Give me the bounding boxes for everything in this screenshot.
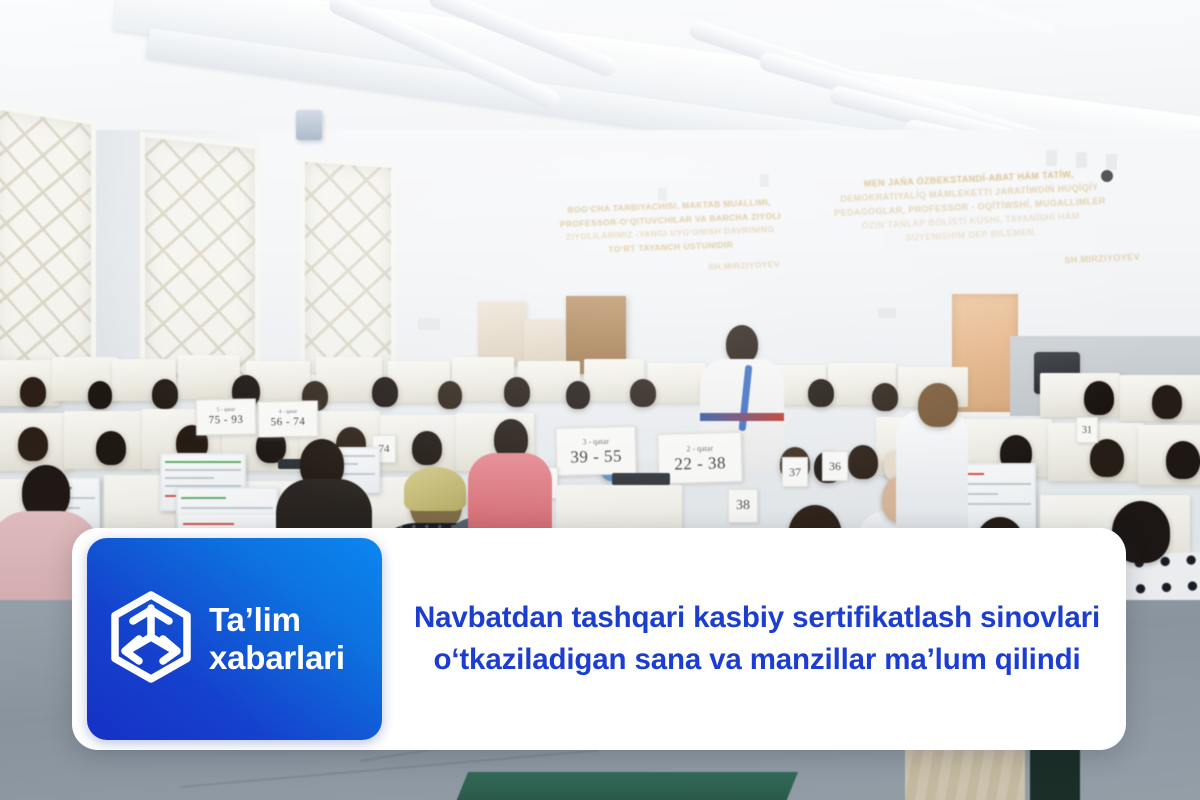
wall-detail	[878, 308, 896, 318]
row-sign-range: 75 - 93	[209, 415, 244, 427]
row-sign-range: 22 - 38	[674, 454, 726, 472]
person-body-foreground	[896, 411, 968, 533]
seat-number: 37	[782, 457, 808, 487]
lattice-window	[0, 104, 96, 381]
screen-bar	[165, 461, 241, 463]
row-sign: 4 - qatar 56 - 74	[258, 400, 319, 437]
cube-logo-icon	[109, 591, 193, 688]
row-sign-label: 2 - qatar	[686, 444, 713, 453]
brand-name: Ta’lim xabarlari	[209, 601, 345, 676]
seat-number: 31	[1076, 417, 1098, 443]
person-head	[152, 379, 178, 409]
screen-bar	[181, 507, 273, 509]
floor-dark-panel	[1030, 742, 1080, 800]
row-sign-range: 56 - 74	[271, 417, 306, 429]
person-head	[1090, 439, 1124, 477]
wall-detail	[658, 188, 667, 201]
person-head	[96, 431, 126, 465]
desk-divider	[648, 363, 706, 403]
row-sign-range: 39 - 55	[570, 447, 622, 465]
desk-divider	[178, 355, 240, 399]
person-head	[848, 445, 878, 479]
row-sign-label: 5 - qatar	[217, 408, 235, 414]
wall-detail	[760, 174, 769, 187]
screen-bar	[165, 477, 214, 479]
wall-inscription-left: BOG‘CHA TARBIYACHISI, MAKTAB MUALLIMI, P…	[559, 196, 781, 258]
brand-name-line2: xabarlari	[209, 639, 345, 676]
person-head	[808, 379, 834, 407]
person-head	[1084, 381, 1114, 415]
news-graphic: BOG‘CHA TARBIYACHISI, MAKTAB MUALLIMI, P…	[0, 0, 1200, 800]
row-sign: 2 - qatar 22 - 38	[657, 432, 742, 484]
screen-bar	[183, 523, 234, 525]
headline-text: Navbatdan tashqari kasbiy sertifikatlash…	[402, 546, 1112, 732]
proctor-stripe	[700, 413, 784, 421]
wall-detail	[418, 318, 440, 330]
person-head	[372, 377, 398, 407]
screen-bar	[165, 469, 241, 471]
person-head	[412, 431, 442, 465]
brand-badge[interactable]: Ta’lim xabarlari	[87, 538, 382, 740]
wall-mounted-device	[296, 110, 322, 140]
seat-number: 36	[822, 451, 848, 481]
person-head	[438, 381, 462, 409]
ceiling-light-fixture	[939, 0, 1057, 35]
person-head	[18, 427, 48, 461]
seat-number: 38	[728, 489, 758, 523]
person-head	[630, 379, 656, 407]
keyboard	[612, 473, 670, 485]
person-head	[20, 377, 46, 407]
screen-bar	[181, 497, 226, 499]
person-head	[1152, 385, 1182, 419]
person-head	[88, 381, 112, 409]
floor-green-panel	[456, 772, 798, 800]
person-head	[566, 381, 590, 409]
person-head	[872, 383, 898, 411]
row-sign-label: 3 - qatar	[582, 437, 609, 446]
person-head	[504, 377, 530, 407]
person-head-foreground	[918, 383, 958, 427]
row-sign-label: 4 - qatar	[279, 410, 297, 416]
wall-detail	[1046, 150, 1057, 166]
person-head	[1166, 441, 1200, 479]
row-sign: 3 - qatar 39 - 55	[555, 426, 636, 476]
row-sign: 5 - qatar 75 - 93	[196, 398, 257, 435]
news-card: Ta’lim xabarlari Navbatdan tashqari kasb…	[72, 528, 1126, 750]
headscarf	[404, 467, 466, 511]
wall-detail	[1076, 152, 1087, 168]
brand-name-line1: Ta’lim	[209, 601, 301, 638]
lattice-window	[300, 157, 396, 386]
